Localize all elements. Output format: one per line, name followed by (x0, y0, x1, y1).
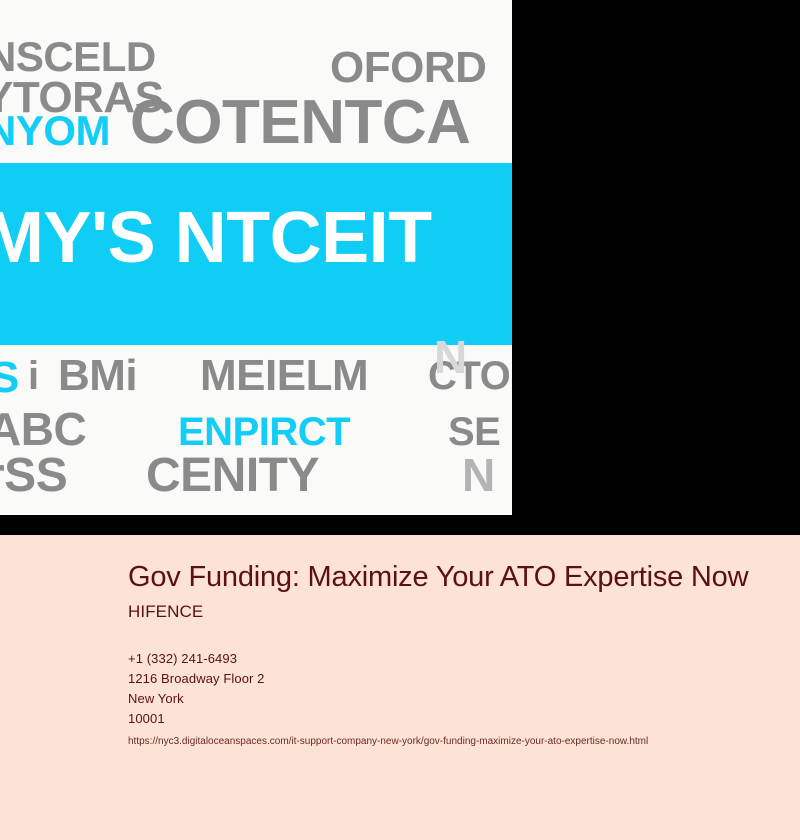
word-cloud-word: OFORD (330, 46, 486, 90)
word-cloud-word: MEIELM (200, 354, 368, 398)
contact-postal-code: 10001 (128, 709, 776, 729)
word-cloud-word: COTENTCA (130, 92, 470, 154)
word-cloud-image: NSCELDYTORASNYOMOFORDCOTENTCAMY'S NTCEIT… (0, 0, 512, 515)
word-cloud-word: NYOM (0, 110, 110, 152)
document-info-panel: Gov Funding: Maximize Your ATO Expertise… (0, 535, 800, 840)
word-cloud-word: ABC (0, 406, 86, 452)
word-cloud-word: i (28, 356, 39, 396)
word-cloud-word: MY'S NTCEIT (0, 202, 432, 274)
word-cloud-word: rSS (0, 452, 67, 500)
media-letterbox-area: NSCELDYTORASNYOMOFORDCOTENTCAMY'S NTCEIT… (0, 0, 800, 535)
word-cloud-word: N (462, 452, 495, 498)
word-cloud-word: CENITY (146, 452, 319, 500)
contact-street: 1216 Broadway Floor 2 (128, 669, 776, 689)
word-cloud-word: N (434, 334, 467, 380)
contact-block: +1 (332) 241-6493 1216 Broadway Floor 2 … (128, 649, 776, 750)
page-title: Gov Funding: Maximize Your ATO Expertise… (128, 561, 776, 593)
contact-city: New York (128, 689, 776, 709)
word-cloud-word: BMi (58, 354, 137, 398)
word-cloud-word: S (0, 356, 19, 400)
info-content: Gov Funding: Maximize Your ATO Expertise… (128, 561, 776, 750)
word-cloud-word: SE (448, 412, 500, 452)
word-cloud-word: NSCELD (0, 36, 156, 78)
source-url-link[interactable]: https://nyc3.digitaloceanspaces.com/it-s… (128, 734, 776, 750)
contact-phone[interactable]: +1 (332) 241-6493 (128, 649, 776, 669)
word-cloud-word: ENPIRCT (178, 412, 350, 452)
company-name: HIFENCE (128, 602, 776, 622)
